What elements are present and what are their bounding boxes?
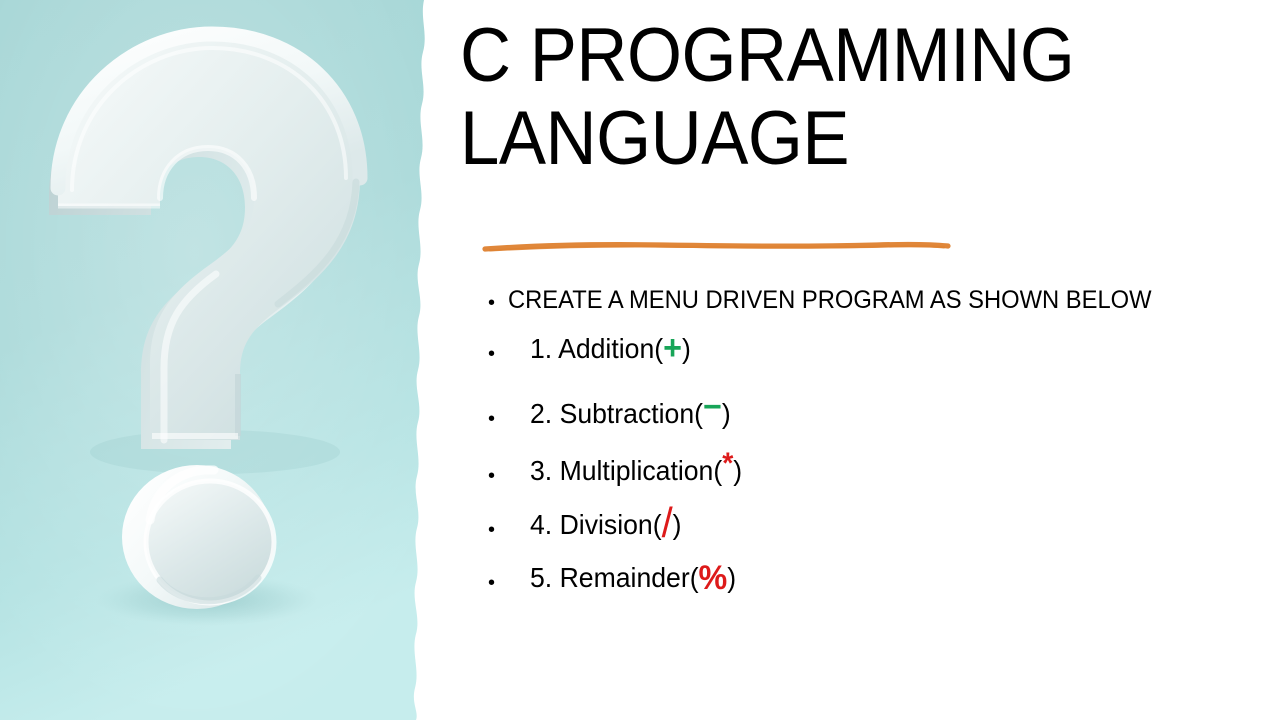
- close-paren: ): [673, 509, 682, 540]
- percent-operator-icon: %: [699, 559, 728, 597]
- list-item-remainder: • 5. Remainder(%): [488, 559, 1248, 611]
- bullet-dot-icon: •: [488, 520, 498, 540]
- slash-operator-icon: /: [662, 499, 673, 546]
- close-paren: ): [722, 398, 731, 429]
- list-item-multiplication-text: 3. Multiplication(*): [530, 452, 742, 490]
- open-paren: (: [713, 455, 722, 486]
- bullet-dot-icon: •: [488, 466, 498, 486]
- list-item-multiplication-label: 3. Multiplication: [530, 455, 713, 486]
- list-item-multiplication: • 3. Multiplication(*): [488, 452, 1248, 506]
- list-item-division: • 4. Division(/): [488, 506, 1248, 559]
- close-paren: ): [682, 333, 691, 364]
- list-item-subtraction-label: 2. Subtraction: [530, 398, 694, 429]
- list-item-subtraction-text: 2. Subtraction(−): [530, 395, 731, 433]
- open-paren: (: [654, 333, 663, 364]
- slide-content: C PROGRAMMING LANGUAGE • CREATE A MENU D…: [432, 0, 1280, 720]
- list-item-addition-label: 1. Addition: [530, 333, 654, 364]
- orange-brush-divider-svg: [482, 237, 952, 259]
- asterisk-operator-icon: *: [722, 447, 733, 480]
- close-paren: ): [727, 562, 736, 593]
- question-mark-illustration: [0, 0, 432, 720]
- slide-canvas: C PROGRAMMING LANGUAGE • CREATE A MENU D…: [0, 0, 1280, 720]
- close-paren: ): [733, 455, 742, 486]
- bullet-list: • CREATE A MENU DRIVEN PROGRAM AS SHOWN …: [488, 283, 1248, 611]
- list-item-addition: • 1. Addition(+): [488, 330, 1248, 395]
- open-paren: (: [653, 509, 662, 540]
- bullet-dot-icon: •: [488, 409, 498, 429]
- list-item-intro: • CREATE A MENU DRIVEN PROGRAM AS SHOWN …: [488, 283, 1248, 330]
- bullet-dot-icon: •: [488, 573, 498, 593]
- page-title: C PROGRAMMING LANGUAGE: [460, 14, 1260, 180]
- plus-operator-icon: +: [663, 329, 682, 367]
- open-paren: (: [694, 398, 703, 429]
- bullet-dot-icon: •: [488, 293, 498, 313]
- list-item-intro-label: CREATE A MENU DRIVEN PROGRAM AS SHOWN BE…: [508, 283, 1152, 317]
- minus-operator-icon: −: [703, 388, 722, 426]
- list-item-division-label: 4. Division: [530, 509, 653, 540]
- bullet-dot-icon: •: [488, 344, 498, 364]
- list-item-subtraction: • 2. Subtraction(−): [488, 395, 1248, 452]
- list-item-division-text: 4. Division(/): [530, 506, 682, 544]
- list-item-remainder-label: 5. Remainder: [530, 562, 690, 593]
- list-item-addition-text: 1. Addition(+): [530, 330, 691, 368]
- title-line-2: LANGUAGE: [460, 97, 1204, 180]
- orange-brush-divider: [482, 237, 952, 259]
- question-mark-illustration-svg: [0, 0, 432, 720]
- list-item-remainder-text: 5. Remainder(%): [530, 559, 736, 597]
- title-line-1: C PROGRAMMING: [460, 14, 1204, 97]
